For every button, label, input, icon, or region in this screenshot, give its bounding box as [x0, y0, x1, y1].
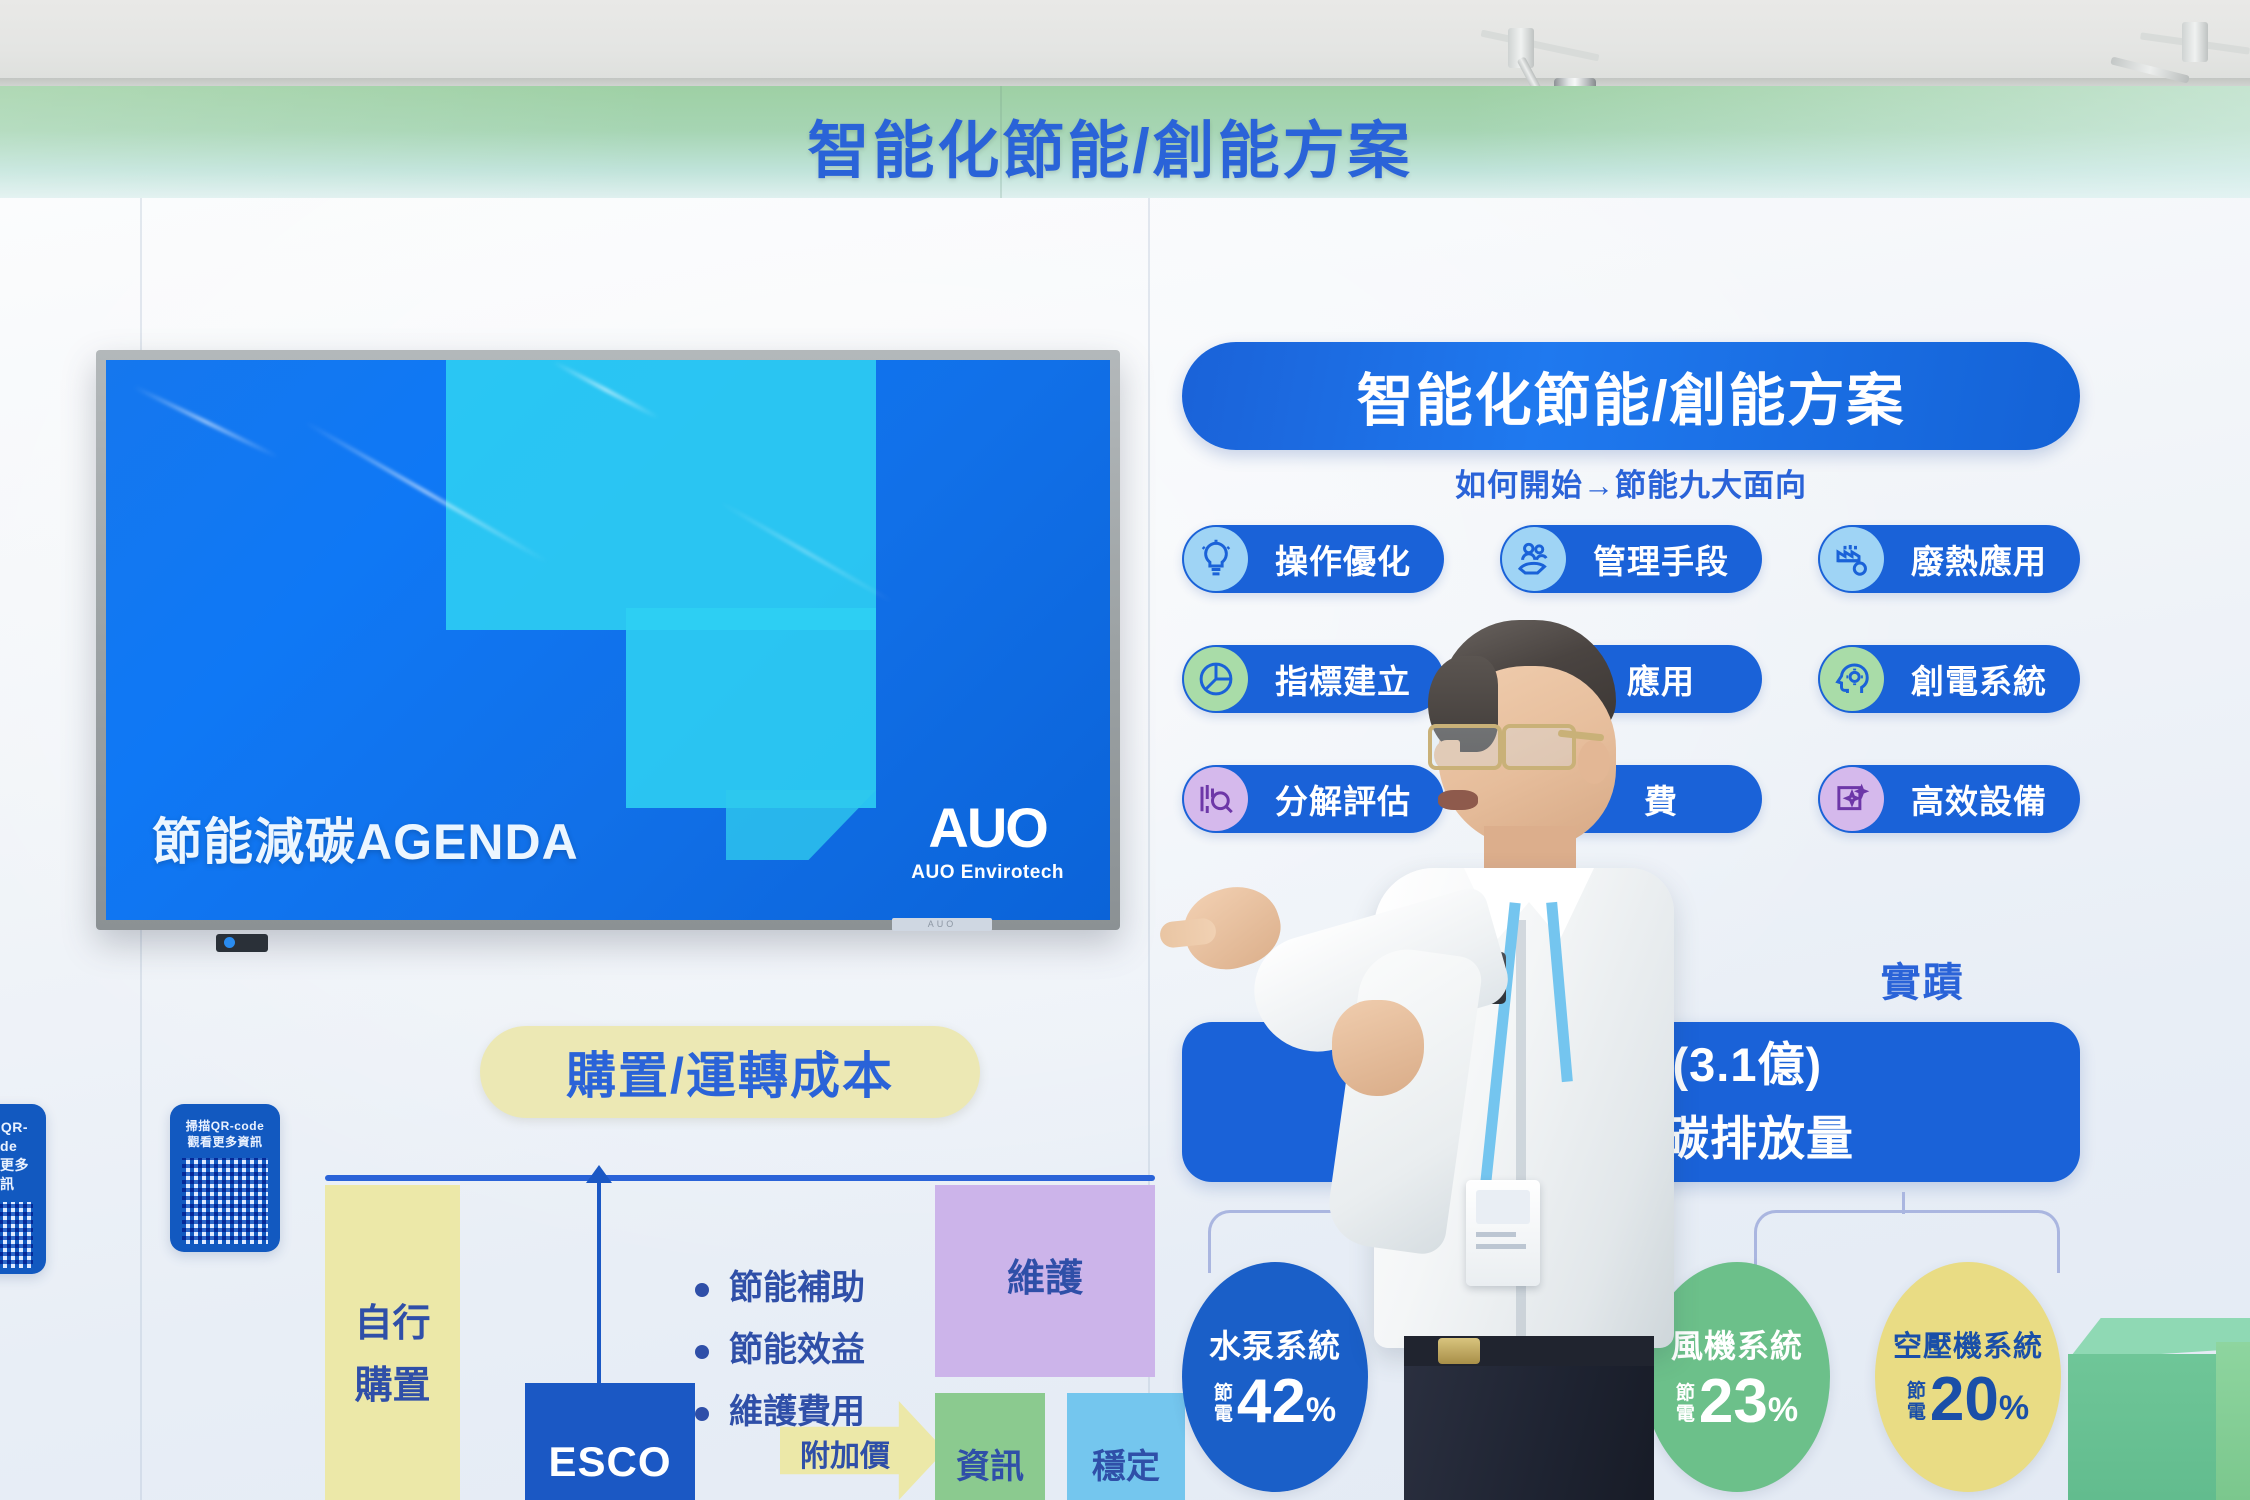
qr-caption-line1: 掃描QR-code [182, 1118, 268, 1134]
presenter-glasses [1428, 724, 1600, 764]
savings-unit: % [1999, 1385, 2029, 1431]
added-value-label: 附加價值 [786, 1431, 904, 1500]
presenter-mouth [1438, 790, 1478, 810]
capability-label: 操作優化 [1248, 535, 1444, 583]
bar-esco-label: ESCO [525, 1438, 695, 1486]
slide-title: 節能減碳AGENDA [152, 802, 579, 874]
savings-oval-air-compressor: 空壓機系統 節電 20 % [1875, 1262, 2061, 1492]
capability-high-efficiency-equipment[interactable]: 高效設備 [1818, 765, 2080, 833]
exhibition-booth-scene: 智能化節能/創能方案 節能減碳AGENDA 宇沛節能服務 節能案例、作法分享(九… [0, 0, 2250, 1500]
bar-stability: 穩定 [1067, 1393, 1185, 1500]
slide-shape-b [626, 608, 876, 808]
qr-caption: 掃描QR-code 觀看更多資訊 [182, 1118, 268, 1150]
bar-self-purchase-label: 自行 購置 [325, 1293, 460, 1417]
bar-information: 資訊 [935, 1393, 1045, 1500]
people-hand-icon [1502, 527, 1566, 591]
head-gear-icon [1820, 647, 1884, 711]
savings-bullet: 節能效益 [695, 1319, 865, 1381]
booth-band-title: 智能化節能/創能方案 [700, 100, 1520, 190]
connector-stem-right [1902, 1192, 1905, 1214]
presenter-id-badge [1466, 1180, 1540, 1286]
slide-shape-a [446, 360, 876, 630]
qr-code-image [0, 1202, 34, 1268]
system-name: 空壓機系統 [1893, 1323, 2043, 1365]
savings-bullet: 節能補助 [695, 1257, 865, 1319]
qr-caption-line2: 觀看更多資訊 [0, 1156, 34, 1194]
qr-poster[interactable]: 掃描QR-code 觀看更多資訊 [170, 1104, 280, 1252]
savings-unit: % [1768, 1387, 1798, 1433]
savings-prefix: 節電 [1214, 1383, 1233, 1425]
lightbulb-icon [1184, 527, 1248, 591]
green-display-pedestal [2068, 1318, 2250, 1500]
pie-chart-icon [1184, 647, 1248, 711]
sparkle-panel-icon [1820, 767, 1884, 831]
slide-canvas: 節能減碳AGENDA 宇沛節能服務 節能案例、作法分享(九大面向) 機電工程/無… [106, 360, 1110, 920]
glasses-lens-left [1428, 724, 1502, 770]
capability-label: 高效設備 [1884, 775, 2080, 823]
chart-top-rule [325, 1175, 1155, 1181]
badge-photo [1476, 1190, 1530, 1224]
qr-caption: 掃描QR-code 觀看更多資訊 [0, 1118, 34, 1194]
cost-section-title: 購置/運轉成本 [480, 1026, 980, 1118]
board-hero-title: 智能化節能/創能方案 [1182, 342, 2080, 450]
auo-logo-mark: AUO [911, 800, 1064, 856]
qr-caption-line1: 掃描QR-code [0, 1118, 34, 1156]
bar-label-line1: 自行 [325, 1293, 460, 1355]
savings-value: 23 [1699, 1371, 1768, 1433]
bar-stability-label: 穩定 [1067, 1439, 1185, 1488]
savings-arrow [597, 1181, 601, 1387]
display-ir-receiver [216, 934, 268, 952]
bar-self-purchase: 自行 購置 [325, 1185, 460, 1500]
capability-label: 創電系統 [1884, 655, 2080, 703]
capability-waste-heat-application[interactable]: 廢熱應用 [1818, 525, 2080, 593]
capability-power-generation-system[interactable]: 創電系統 [1818, 645, 2080, 713]
qr-poster-partial[interactable]: 掃描QR-code 觀看更多資訊 [0, 1104, 46, 1274]
qr-code-image [182, 1158, 268, 1244]
presenter [1288, 620, 1708, 1500]
capability-management-method[interactable]: 管理手段 [1500, 525, 1762, 593]
qr-caption-line2: 觀看更多資訊 [182, 1134, 268, 1150]
savings-value: 20 [1930, 1369, 1999, 1431]
slide-shape-c [726, 790, 876, 860]
auo-logo: AUO AUO Envirotech [911, 800, 1064, 884]
savings-bullet-list: 節能補助 節能效益 維護費用 [655, 1257, 865, 1443]
cost-comparison-chart: 自行 購置 ESCO 節能補助 節能效益 維護費用 附加價值 維護 資訊 穩定 [325, 1175, 1155, 1500]
badge-line-1 [1476, 1232, 1516, 1237]
factory-gear-icon [1820, 527, 1884, 591]
kpi-heading-suffix: 實蹟 [1881, 961, 1965, 1005]
pedestal-side [2216, 1342, 2250, 1500]
bar-information-label: 資訊 [935, 1439, 1045, 1488]
presentation-display: 節能減碳AGENDA 宇沛節能服務 節能案例、作法分享(九大面向) 機電工程/無… [96, 350, 1120, 930]
ceiling-panel [0, 0, 2250, 90]
capability-label: 廢熱應用 [1884, 535, 2080, 583]
capability-label: 管理手段 [1566, 535, 1762, 583]
pedestal-front [2068, 1354, 2216, 1500]
display-brand-badge: AUO [892, 918, 992, 931]
bar-label-line2: 購置 [325, 1355, 460, 1417]
magnifier-data-icon [1184, 767, 1248, 831]
capability-operation-optimization[interactable]: 操作優化 [1182, 525, 1444, 593]
board-hero-subtitle: 如何開始→節能九大面向 [1182, 460, 2080, 505]
savings-prefix: 節電 [1907, 1381, 1926, 1423]
slide-streak-1 [133, 385, 279, 459]
presenter-belt-buckle [1438, 1338, 1480, 1364]
bar-maintenance: 維護 [935, 1185, 1155, 1377]
badge-line-2 [1476, 1244, 1526, 1249]
bar-maintenance-label: 維護 [935, 1247, 1155, 1302]
auo-logo-subtitle: AUO Envirotech [911, 862, 1064, 884]
presenter-raised-hand [1332, 1000, 1424, 1096]
